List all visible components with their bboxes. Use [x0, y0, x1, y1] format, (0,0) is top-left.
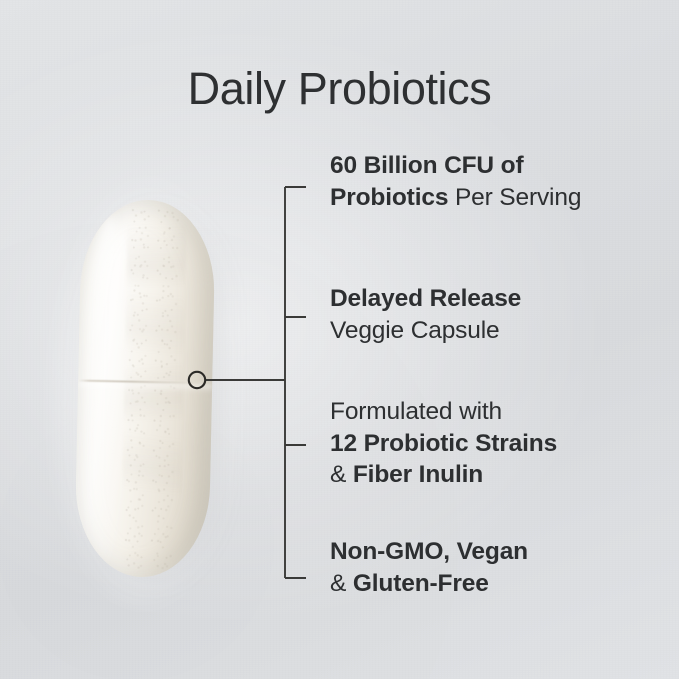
feature-line-regular: & — [330, 570, 353, 597]
feature-dietary-claims: Non-GMO, Vegan & Gluten-Free — [330, 536, 528, 599]
feature-line: 12 Probiotic Strains — [330, 428, 557, 460]
feature-line: & Gluten-Free — [330, 568, 528, 600]
feature-list: 60 Billion CFU of Probiotics Per Serving… — [330, 0, 679, 679]
feature-line-bold: 60 Billion CFU of — [330, 152, 523, 179]
feature-line-regular: Veggie Capsule — [330, 317, 500, 344]
feature-cfu-count: 60 Billion CFU of Probiotics Per Serving — [330, 150, 581, 213]
feature-line: 60 Billion CFU of — [330, 150, 581, 182]
feature-line-regular: Formulated with — [330, 398, 502, 425]
feature-line: & Fiber Inulin — [330, 459, 557, 491]
feature-line-regular: & — [330, 461, 353, 488]
feature-line-bold: Fiber Inulin — [353, 461, 483, 488]
capsule-image — [74, 199, 218, 582]
product-infographic: Daily Probiotics 60 Billion — [0, 0, 679, 679]
feature-line: Veggie Capsule — [330, 315, 521, 347]
feature-line: Non-GMO, Vegan — [330, 536, 528, 568]
feature-line-regular: Per Serving — [448, 184, 581, 211]
feature-line: Delayed Release — [330, 283, 521, 315]
capsule-body — [74, 199, 216, 579]
feature-strains-and-fiber: Formulated with 12 Probiotic Strains & F… — [330, 396, 557, 491]
feature-line-bold: Gluten-Free — [353, 570, 489, 597]
feature-line-bold: 12 Probiotic Strains — [330, 430, 557, 457]
feature-line: Probiotics Per Serving — [330, 182, 581, 214]
feature-line-bold: Probiotics — [330, 184, 448, 211]
feature-line-bold: Non-GMO, Vegan — [330, 538, 528, 565]
feature-delayed-release: Delayed Release Veggie Capsule — [330, 283, 521, 346]
feature-line: Formulated with — [330, 396, 557, 428]
feature-line-bold: Delayed Release — [330, 285, 521, 312]
